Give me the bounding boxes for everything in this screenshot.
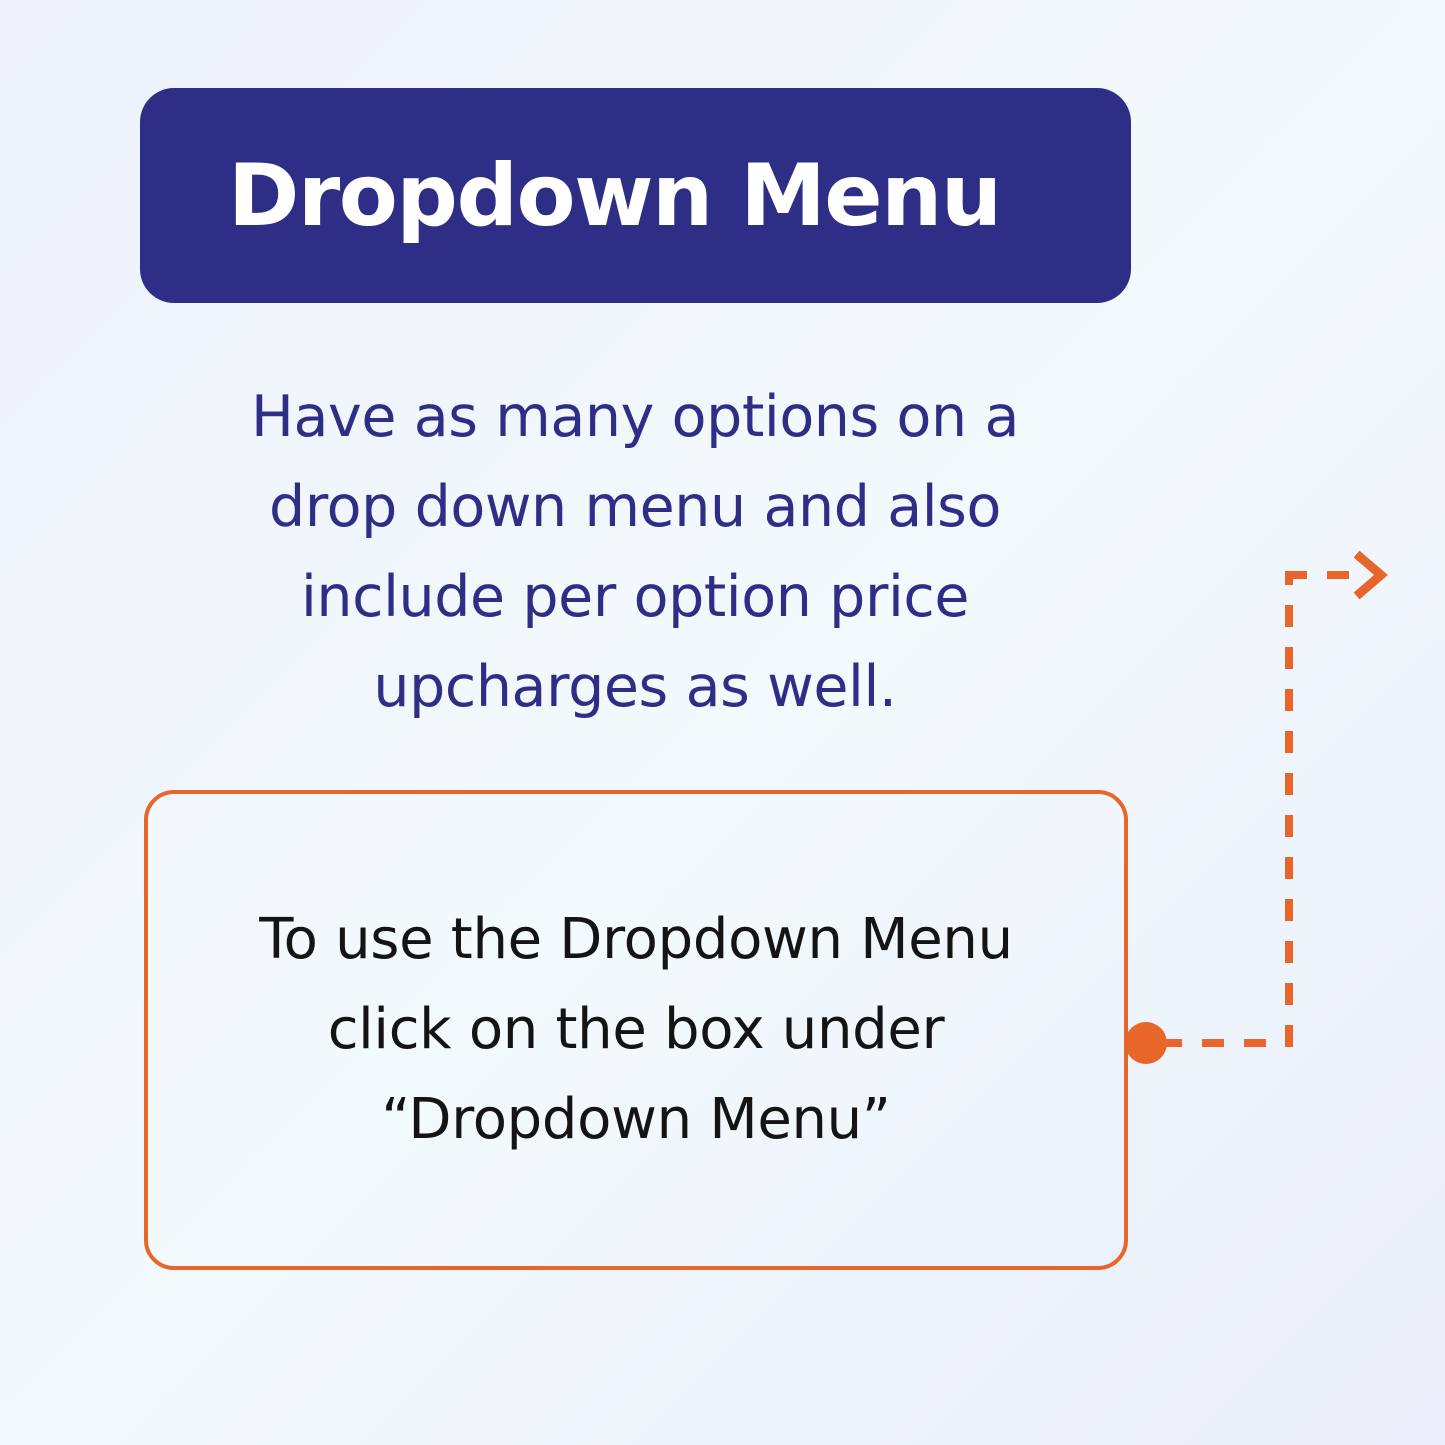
description-paragraph: Have as many options on a drop down menu… (160, 372, 1110, 732)
description-line-4: upcharges as well. (160, 642, 1110, 732)
arrow-right-icon (1360, 557, 1381, 593)
description-line-3: include per option price (160, 552, 1110, 642)
instruction-text: To use the Dropdown Menu click on the bo… (148, 895, 1124, 1165)
instruction-callout-box[interactable]: To use the Dropdown Menu click on the bo… (144, 790, 1128, 1270)
connector-dot (1125, 1022, 1167, 1064)
description-line-1: Have as many options on a (160, 372, 1110, 462)
instruction-line-3: “Dropdown Menu” (148, 1075, 1124, 1165)
instruction-line-2: click on the box under (148, 985, 1124, 1075)
description-line-2: drop down menu and also (160, 462, 1110, 552)
page-title: Dropdown Menu (140, 153, 1001, 239)
header-banner: Dropdown Menu (140, 88, 1131, 303)
slide-canvas: Dropdown Menu Have as many options on a … (0, 0, 1445, 1445)
instruction-line-1: To use the Dropdown Menu (148, 895, 1124, 985)
